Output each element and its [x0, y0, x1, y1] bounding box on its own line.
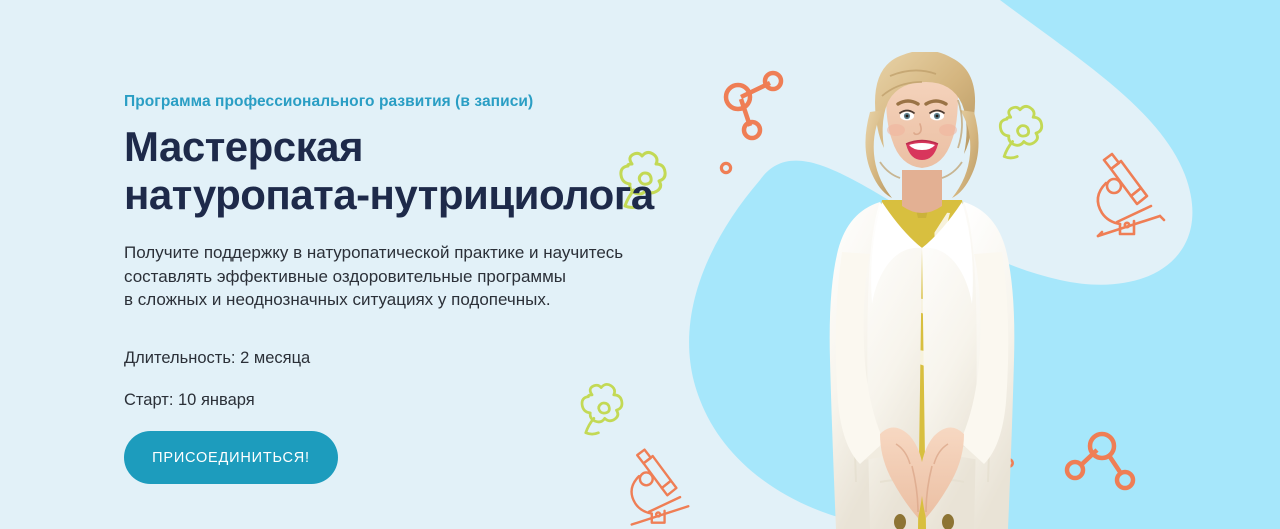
hero-copy: Программа профессионального развития (в … — [124, 92, 714, 484]
program-eyebrow: Программа профессионального развития (в … — [124, 92, 714, 112]
program-facts: Длительность: 2 месяца Старт: 10 января — [124, 348, 714, 411]
fact-duration: Длительность: 2 месяца — [124, 348, 714, 369]
hero-banner: Программа профессионального развития (в … — [0, 0, 1280, 529]
page-title: Мастерская натуропата-нутрициолога — [124, 123, 714, 219]
hero-description: Получите поддержку в натуропатической пр… — [124, 241, 714, 312]
fact-start-date: Старт: 10 января — [124, 390, 714, 411]
instructor-photo — [762, 52, 1082, 529]
join-button[interactable]: ПРИСОЕДИНИТЬСЯ! — [124, 431, 338, 484]
